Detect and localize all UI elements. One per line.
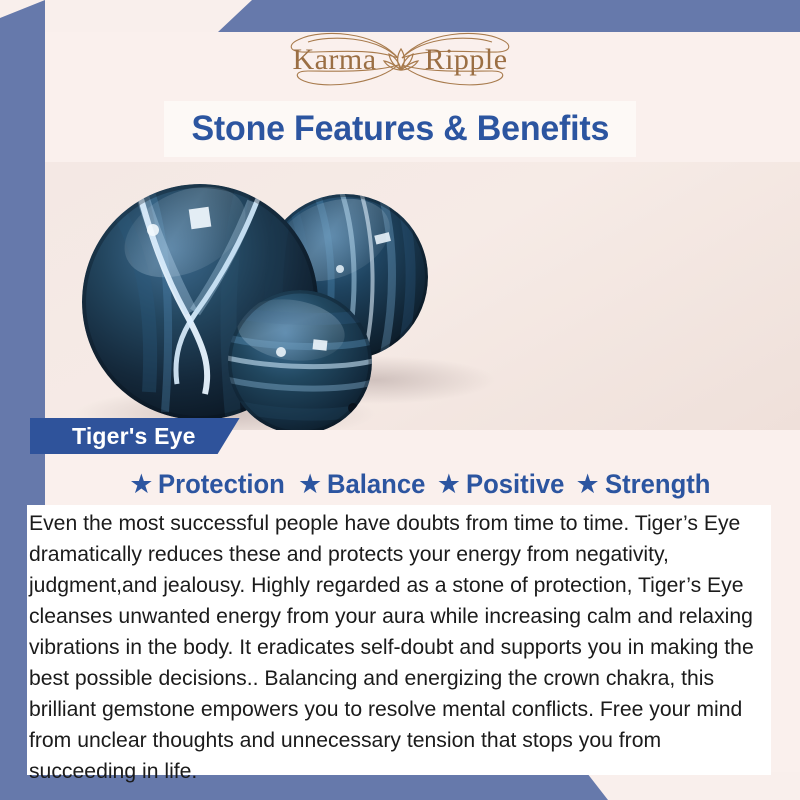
description-panel: Even the most successful people have dou… [27,505,771,775]
star-icon: ★ [576,471,600,498]
star-icon: ★ [298,471,322,498]
stone-name-banner: Tiger's Eye [30,418,240,454]
feature-item-positive: ★ Positive [437,469,570,500]
feature-label: Balance [327,469,425,500]
star-icon: ★ [129,471,153,498]
feature-item-protection: ★ Protection [129,469,292,500]
feature-item-balance: ★ Balance [298,469,431,500]
headline-panel: Stone Features & Benefits [164,101,636,157]
stone-name-label: Tiger's Eye [72,423,196,450]
logo-word-ripple: Ripple [425,45,508,75]
feature-keyword-row: ★ Protection ★ Balance ★ Positive ★ Stre… [45,464,800,504]
brand-logo: Karma Ripple [0,24,800,96]
star-icon: ★ [437,471,461,498]
description-text: Even the most successful people have dou… [27,508,760,787]
feature-item-strength: ★ Strength [576,469,716,500]
feature-label: Protection [158,469,285,500]
gemstone-illustration [45,162,800,430]
infographic-canvas: Karma Ripple Stone Featur [0,0,800,800]
feature-label: Strength [605,469,710,500]
logo-lockup: Karma Ripple [250,25,550,95]
gemstone-photo [45,162,800,430]
feature-label: Positive [466,469,564,500]
logo-word-karma: Karma [292,45,376,75]
lotus-icon [381,43,421,77]
logo-text: Karma Ripple [292,43,507,77]
page-title: Stone Features & Benefits [191,109,609,149]
